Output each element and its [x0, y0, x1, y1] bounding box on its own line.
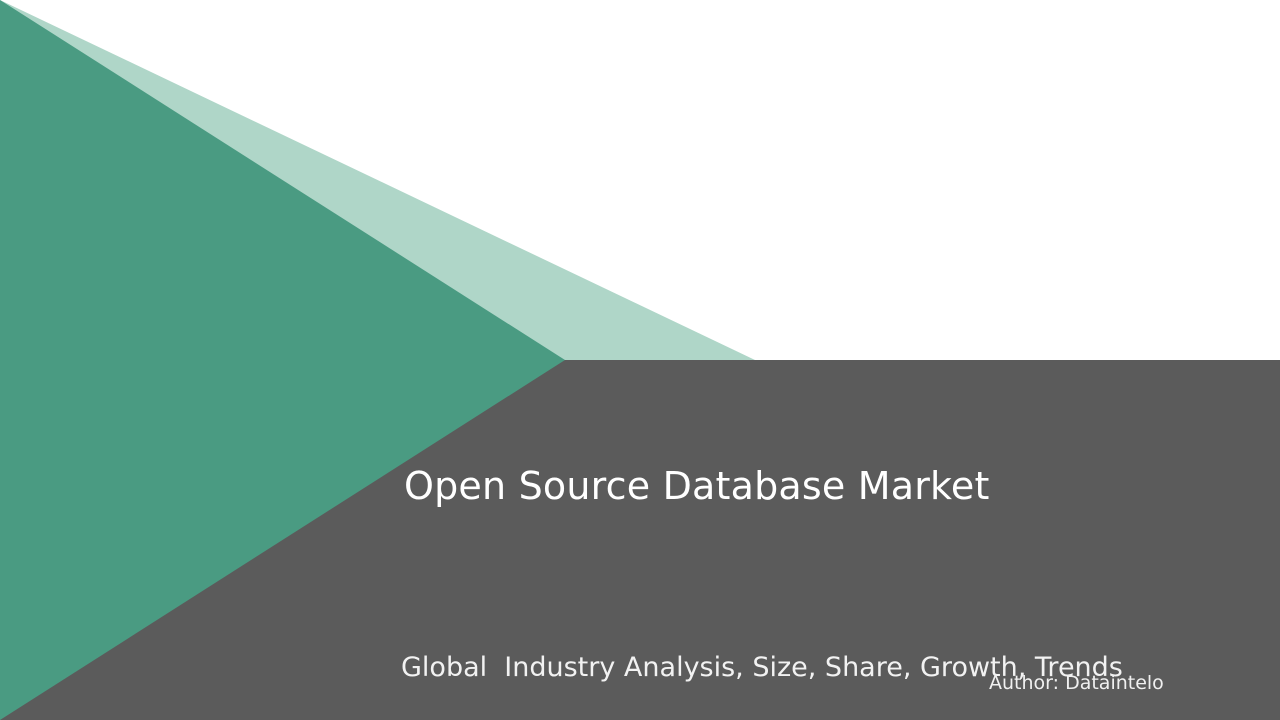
slide-content: Open Source Database Market Global Indus… [0, 0, 1280, 720]
title-slide: Open Source Database Market Global Indus… [0, 0, 1280, 720]
slide-title: Open Source Database Market [404, 466, 990, 508]
slide-author: Author: Dataintelo [989, 672, 1164, 695]
